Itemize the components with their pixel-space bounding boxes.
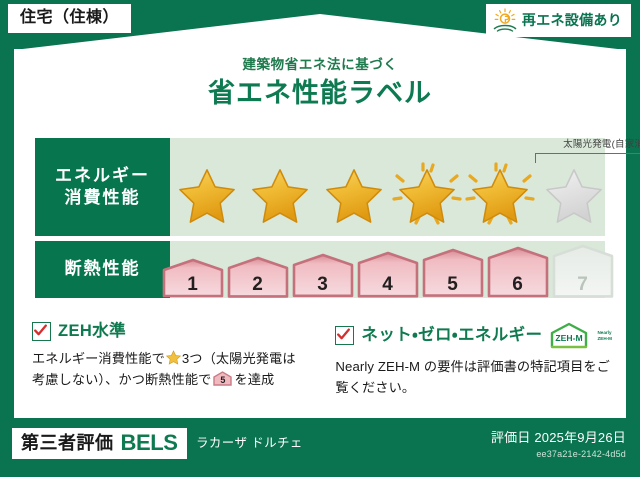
bels-en-label: BELS [121, 432, 178, 454]
insulation-performance-label-key: 断熱性能 [35, 241, 170, 298]
insulation-level-5: 5 [422, 248, 484, 298]
energy-star-4 [390, 160, 458, 230]
claim-net-zero-body: Nearly ZEH-M の要件は評価書の特記項目をご覧ください。 [335, 356, 612, 399]
zeh-m-sub-line2: ZEH-M [597, 336, 612, 341]
insulation-level-1: 1 [162, 258, 224, 298]
check-icon [337, 328, 350, 341]
label-title-block: 建築物省エネ法に基づく 省エネ性能ラベル [0, 58, 640, 109]
insulation-level-scale: 1234567 [170, 241, 605, 298]
claim-net-zero-energy: ネット・ゼロ・エネルギー ZEH-M Nearly ZEH-M Nearly Z… [317, 310, 626, 416]
zeh-m-logo-icon: ZEH-M [549, 322, 589, 349]
energy-performance-label-key: エネルギー 消費性能 [35, 138, 170, 236]
energy-star-2 [243, 160, 311, 230]
zeh-checkbox [32, 322, 51, 341]
claim-zeh-header: ZEH水準 [32, 322, 303, 341]
insulation-level-6: 6 [487, 246, 549, 298]
net-zero-checkbox [335, 326, 354, 345]
renewable-equipment-badge: 再エネ設備あり [486, 4, 631, 37]
claim-net-zero-header: ネット・ゼロ・エネルギー ZEH-M Nearly ZEH-M [335, 322, 612, 349]
insulation-level-7: 7 [552, 244, 614, 298]
inline-house-level-value: 5 [213, 376, 232, 385]
check-icon [34, 324, 47, 337]
claim-net-zero-title: ネット・ゼロ・エネルギー [361, 327, 542, 344]
star-filled-icon [175, 166, 239, 226]
claim-zeh-title: ZEH水準 [58, 323, 126, 340]
zeh-m-logo-sublabel: Nearly ZEH-M [597, 330, 612, 341]
bels-jp-label: 第三者評価 [21, 434, 114, 452]
claim-zeh-text-1: エネルギー消費性能で [32, 351, 165, 366]
energy-performance-label: 住宅（住棟） 再エネ設備あり 建築物省エネ法に基づく 省エネ性能ラベル [0, 0, 640, 477]
insulation-level-number: 6 [487, 275, 549, 294]
evaluation-id: ee37a21e-2142-4d5d [536, 450, 626, 459]
evaluation-date: 評価日 2025年9月26日 [491, 431, 626, 444]
star-filled-icon [468, 166, 532, 226]
energy-star-3 [317, 160, 385, 230]
insulation-level-2: 2 [227, 256, 289, 298]
energy-star-5 [463, 160, 531, 230]
insulation-level-number: 5 [422, 275, 484, 294]
sun-renewable-icon [492, 8, 518, 32]
energy-star-6 [537, 160, 605, 230]
insulation-level-number: 7 [552, 275, 614, 294]
star-filled-icon [322, 166, 386, 226]
label-footer: 第三者評価 BELS ラカーザ ドルチェ 評価日 2025年9月26日 ee37… [0, 418, 640, 477]
insulation-performance-row: 断熱性能 1234567 [35, 241, 605, 298]
house-type-tag: 住宅（住棟） [8, 4, 131, 33]
building-name: ラカーザ ドルチェ [196, 437, 303, 450]
claim-zeh-text-2: 3つ（太陽光発電 [182, 351, 282, 366]
star-filled-icon [395, 166, 459, 226]
bels-certification-mark: 第三者評価 BELS [12, 428, 187, 459]
zeh-m-sub-line1: Nearly [597, 330, 611, 335]
inline-star-icon [166, 350, 181, 365]
claim-zeh-standard: ZEH水準 エネルギー消費性能で3つ（太陽光発電は考慮しない）、かつ断熱性能で5… [14, 310, 317, 416]
label-subtitle: 建築物省エネ法に基づく [0, 58, 640, 73]
insulation-level-number: 4 [357, 275, 419, 294]
svg-text:ZEH-M: ZEH-M [556, 333, 583, 343]
claims-section: ZEH水準 エネルギー消費性能で3つ（太陽光発電は考慮しない）、かつ断熱性能で5… [14, 310, 626, 416]
inline-house-level-icon: 5 [213, 371, 232, 386]
house-type-tag-label: 住宅（住棟） [20, 9, 119, 26]
insulation-performance-value: 1234567 [170, 241, 605, 298]
energy-performance-row: エネルギー 消費性能 太陽光発電(自家消費)分 [35, 138, 605, 236]
energy-star-rating [170, 160, 605, 232]
insulation-level-number: 1 [162, 275, 224, 294]
insulation-level-number: 2 [227, 275, 289, 294]
claim-zeh-text-4: を達成 [234, 372, 274, 387]
energy-key-line2: 消費性能 [65, 187, 141, 209]
star-empty-icon [542, 166, 606, 226]
insulation-key-label: 断熱性能 [65, 258, 141, 280]
energy-performance-value: 太陽光発電(自家消費)分 [170, 138, 605, 236]
energy-star-1 [170, 160, 238, 230]
star-filled-icon [248, 166, 312, 226]
insulation-level-number: 3 [292, 275, 354, 294]
label-main-title: 省エネ性能ラベル [0, 79, 640, 109]
claim-zeh-body: エネルギー消費性能で3つ（太陽光発電は考慮しない）、かつ断熱性能で5を達成 [32, 348, 303, 391]
insulation-level-3: 3 [292, 253, 354, 298]
insulation-level-4: 4 [357, 251, 419, 298]
renewable-badge-label: 再エネ設備あり [522, 13, 622, 27]
energy-key-line1: エネルギー [55, 165, 150, 187]
